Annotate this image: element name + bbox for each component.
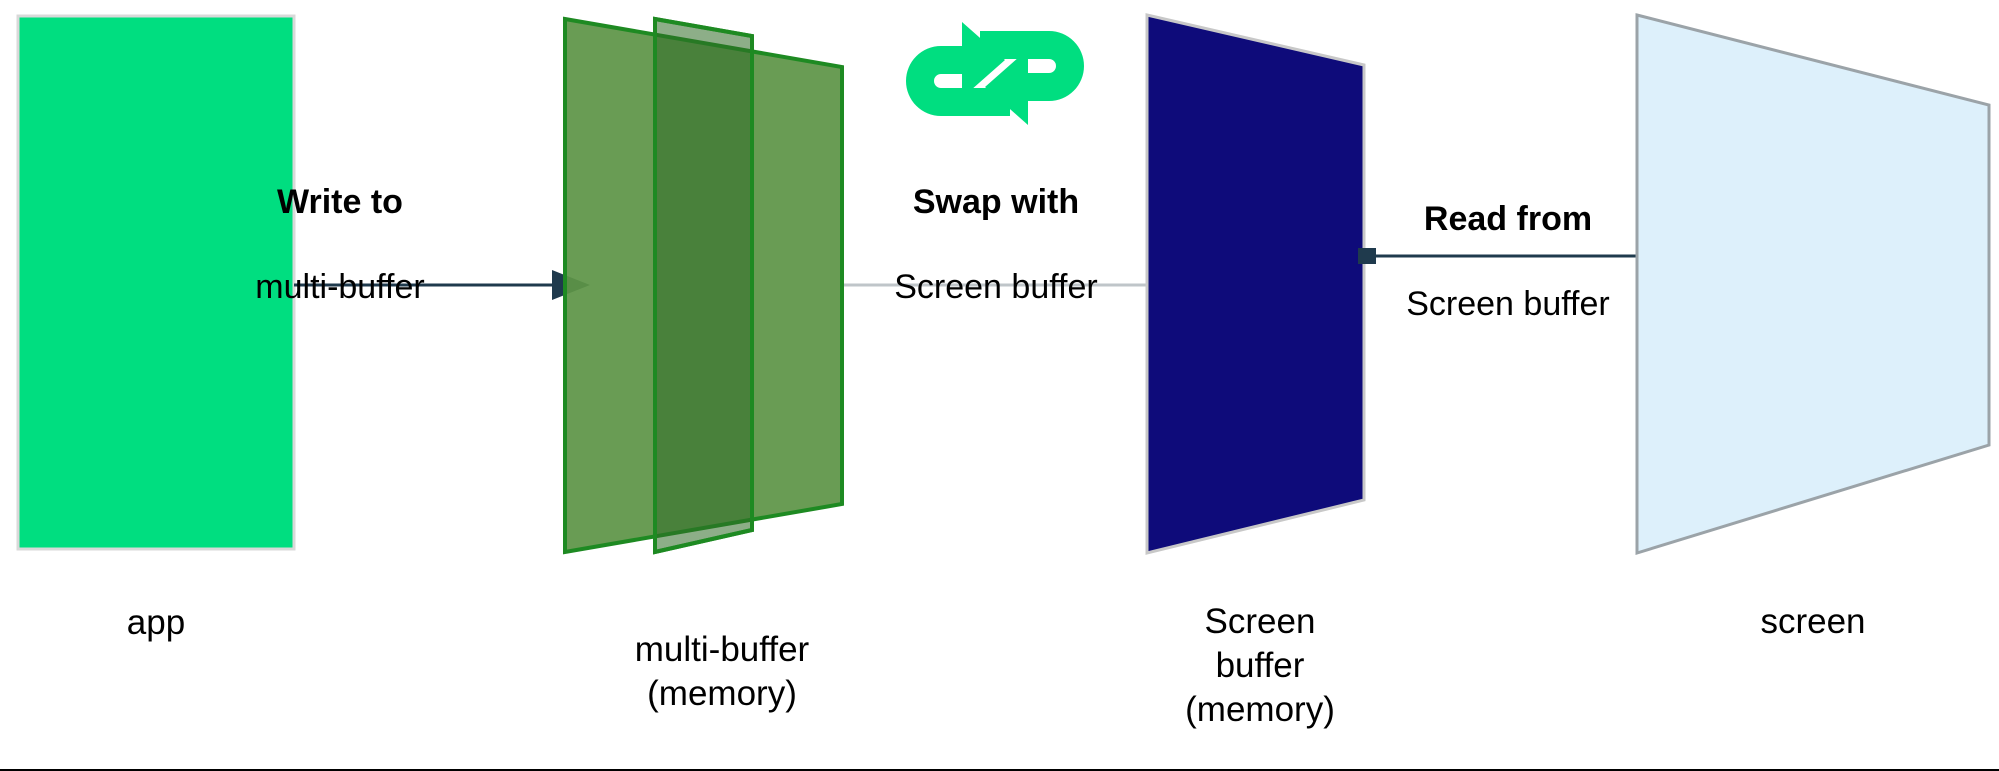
node-caption-app: app (18, 601, 294, 645)
node-multibuffer-shape-front[interactable] (655, 19, 752, 552)
edge-label-read: Read from Screen buffer (1368, 155, 1648, 369)
edge-swap-title: Swap with (856, 181, 1136, 224)
node-caption-multibuffer: multi-buffer (memory) (562, 628, 882, 716)
diagram-graphics (0, 0, 1999, 771)
node-screenbuffer-shape[interactable] (1147, 15, 1364, 553)
edge-label-swap: Swap with Screen buffer (856, 138, 1136, 352)
node-screen-shape[interactable] (1637, 15, 1989, 553)
diagram-canvas: Write to multi-buffer Swap with Screen b… (0, 0, 1999, 771)
edge-write-title: Write to (200, 181, 480, 224)
edge-read-title: Read from (1368, 198, 1648, 241)
edge-swap-subtitle: Screen buffer (856, 266, 1136, 309)
edge-write-subtitle: multi-buffer (200, 266, 480, 309)
edge-label-write: Write to multi-buffer (200, 138, 480, 352)
node-caption-screenbuffer: Screen buffer (memory) (1130, 600, 1390, 732)
swap-loop-icon (906, 22, 1084, 125)
edge-read-subtitle: Screen buffer (1368, 283, 1648, 326)
node-caption-screen: screen (1640, 600, 1986, 644)
